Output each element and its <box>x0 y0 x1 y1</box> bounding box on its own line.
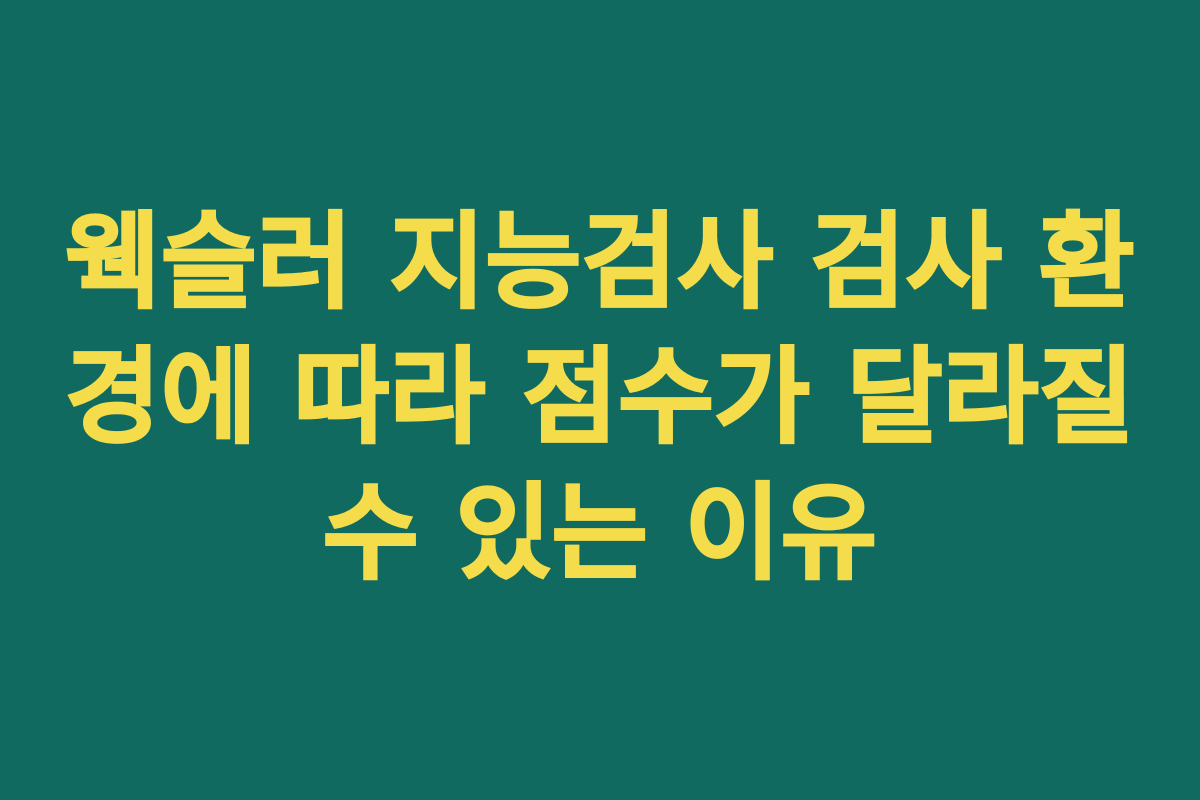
banner-card: 웩슬러 지능검사 검사 환 경에 따라 점수가 달라질 수 있는 이유 <box>0 0 1200 800</box>
headline-block: 웩슬러 지능검사 검사 환 경에 따라 점수가 달라질 수 있는 이유 <box>65 196 1135 601</box>
headline-line-2: 경에 따라 점수가 달라질 <box>65 331 1135 466</box>
headline-line-3: 수 있는 이유 <box>65 466 1135 601</box>
headline-line-1: 웩슬러 지능검사 검사 환 <box>65 196 1135 331</box>
